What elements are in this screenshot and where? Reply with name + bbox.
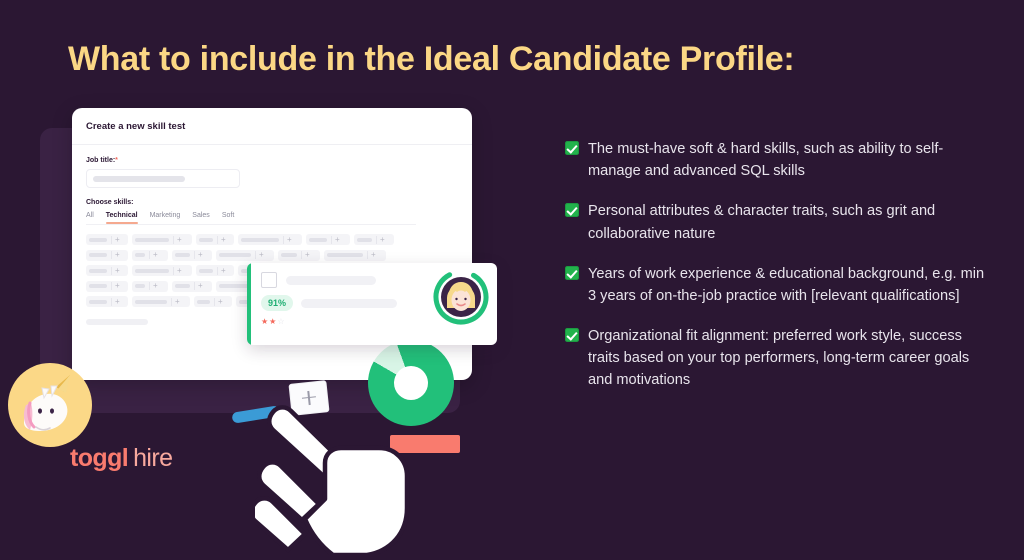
tab-technical[interactable]: Technical [106, 212, 138, 224]
select-candidate-checkbox[interactable] [261, 272, 277, 288]
chip-add-icon[interactable]: + [111, 298, 120, 306]
tab-all[interactable]: All [86, 212, 94, 224]
chip-add-icon[interactable]: + [194, 251, 203, 259]
tab-sales[interactable]: Sales [192, 212, 210, 224]
skill-chip[interactable]: + [86, 250, 128, 261]
check-mark-button-icon [565, 203, 579, 217]
skill-chip[interactable]: + [196, 234, 234, 245]
skill-chip[interactable]: + [132, 281, 168, 292]
app-mockup-illustration: Create a new skill test Job title:* Choo… [0, 100, 520, 430]
candidate-result-card: 91% ★★☆ [247, 263, 497, 345]
unicorn-mascot-icon [6, 361, 94, 449]
footer-placeholder-bar [86, 319, 148, 325]
skill-chip[interactable]: + [132, 296, 190, 307]
logo-secondary-text: hire [133, 444, 172, 472]
score-badge: 91% [261, 295, 293, 311]
skill-chip[interactable]: + [324, 250, 386, 261]
chip-add-icon[interactable]: + [149, 251, 158, 259]
skill-chip[interactable]: + [238, 234, 302, 245]
page-title: What to include in the Ideal Candidate P… [68, 40, 794, 79]
card-header: Create a new skill test [72, 108, 472, 145]
tab-soft[interactable]: Soft [222, 212, 234, 224]
list-item: Organizational fit alignment: preferred … [565, 325, 985, 392]
list-item-label: Years of work experience & educational b… [588, 263, 985, 307]
chip-add-icon[interactable]: + [214, 298, 223, 306]
chip-add-icon[interactable]: + [376, 236, 385, 244]
chip-add-icon[interactable]: + [217, 267, 226, 275]
skill-chip[interactable]: + [194, 296, 232, 307]
brand-logo: togglhire [70, 444, 172, 473]
chip-row: + + + + + + [86, 250, 458, 261]
skill-chip[interactable]: + [132, 265, 192, 276]
list-item-label: Personal attributes & character traits, … [588, 200, 985, 244]
check-mark-button-icon [565, 328, 579, 342]
chip-add-icon[interactable]: + [367, 251, 376, 259]
skill-chip[interactable]: + [86, 234, 128, 245]
check-mark-button-icon [565, 266, 579, 280]
job-title-input[interactable] [86, 169, 240, 188]
skill-chip[interactable]: + [132, 250, 168, 261]
skill-chip[interactable]: + [306, 234, 350, 245]
chip-add-icon[interactable]: + [331, 236, 340, 244]
chip-add-icon[interactable]: + [173, 267, 182, 275]
required-marker: * [115, 157, 118, 164]
list-item-label: The must-have soft & hard skills, such a… [588, 138, 985, 182]
input-placeholder-bar [93, 176, 185, 182]
chip-add-icon[interactable]: + [217, 236, 226, 244]
skill-chip[interactable]: + [86, 281, 128, 292]
tabs-divider [86, 224, 416, 225]
skill-chip[interactable]: + [86, 265, 128, 276]
chip-add-icon[interactable]: + [173, 236, 182, 244]
chip-add-icon[interactable]: + [111, 282, 120, 290]
chip-add-icon[interactable]: + [171, 298, 180, 306]
score-detail-placeholder [301, 299, 397, 308]
choose-skills-label: Choose skills: [86, 199, 458, 206]
chip-add-icon[interactable]: + [194, 282, 203, 290]
pointing-hand-cursor-icon [255, 375, 430, 555]
chip-add-icon[interactable]: + [111, 236, 120, 244]
chip-add-icon[interactable]: + [111, 251, 120, 259]
card-title: Create a new skill test [86, 121, 185, 132]
list-item: The must-have soft & hard skills, such a… [565, 138, 985, 182]
skill-chip[interactable]: + [172, 281, 212, 292]
chip-add-icon[interactable]: + [255, 251, 264, 259]
bullet-list: The must-have soft & hard skills, such a… [565, 138, 985, 410]
chip-add-icon[interactable]: + [111, 267, 120, 275]
skill-category-tabs: All Technical Marketing Sales Soft [86, 212, 458, 224]
list-item: Years of work experience & educational b… [565, 263, 985, 307]
skill-chip[interactable]: + [86, 296, 128, 307]
skill-chip[interactable]: + [278, 250, 320, 261]
chip-row: + + + + + + [86, 234, 458, 245]
job-title-label: Job title:* [86, 157, 458, 164]
skill-chip[interactable]: + [354, 234, 394, 245]
tab-marketing[interactable]: Marketing [150, 212, 181, 224]
chip-add-icon[interactable]: + [149, 282, 158, 290]
list-item: Personal attributes & character traits, … [565, 200, 985, 244]
candidate-avatar-icon [433, 269, 489, 325]
skill-chip[interactable]: + [196, 265, 234, 276]
logo-primary-text: toggl [70, 444, 128, 472]
skill-chip[interactable]: + [216, 250, 274, 261]
check-mark-button-icon [565, 141, 579, 155]
job-title-label-text: Job title: [86, 157, 115, 164]
candidate-name-placeholder [286, 276, 376, 285]
chip-add-icon[interactable]: + [301, 251, 310, 259]
skill-chip[interactable]: + [172, 250, 212, 261]
list-item-label: Organizational fit alignment: preferred … [588, 325, 985, 392]
result-card-body: 91% ★★☆ [247, 263, 497, 345]
star-empty-icon: ☆ [277, 317, 285, 326]
skill-chip[interactable]: + [132, 234, 192, 245]
chip-add-icon[interactable]: + [283, 236, 292, 244]
